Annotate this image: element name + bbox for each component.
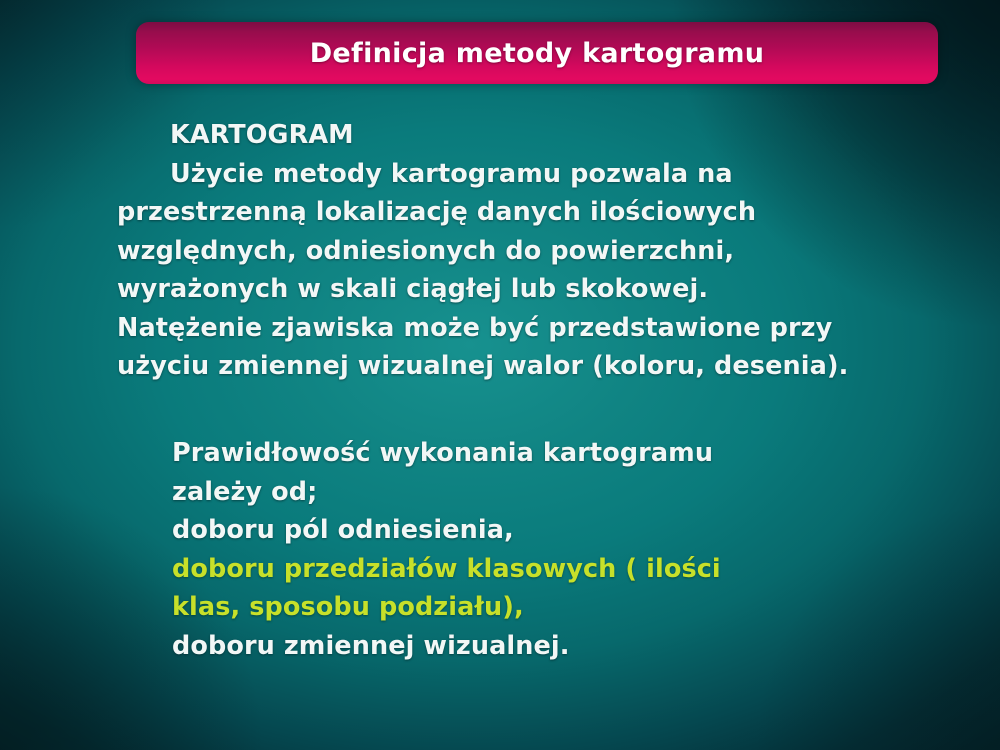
text-line: Prawidłowość wykonania kartogramu	[172, 434, 962, 473]
conditions-list: Prawidłowość wykonania kartogramu zależy…	[172, 434, 962, 665]
slide-title: Definicja metody kartogramu	[310, 38, 765, 69]
text-line-highlighted: doboru przedziałów klasowych ( ilości	[172, 550, 962, 589]
text-line: doboru zmiennej wizualnej.	[172, 627, 962, 666]
slide-title-banner: Definicja metody kartogramu	[136, 22, 938, 84]
text-line: doboru pól odniesienia,	[172, 511, 962, 550]
text-line: użyciu zmiennej wizualnej walor (koloru,…	[117, 347, 967, 386]
text-line-highlighted: klas, sposobu podziału),	[172, 588, 962, 627]
text-line: wyrażonych w skali ciągłej lub skokowej.	[117, 270, 967, 309]
text-line: przestrzenną lokalizację danych ilościow…	[117, 193, 967, 232]
definition-paragraph: KARTOGRAM Użycie metody kartogramu pozwa…	[117, 116, 967, 386]
text-line: KARTOGRAM	[117, 116, 967, 155]
text-line: Użycie metody kartogramu pozwala na	[117, 155, 967, 194]
text-line: zależy od;	[172, 473, 962, 512]
presentation-slide: Definicja metody kartogramu KARTOGRAM Uż…	[0, 0, 1000, 750]
text-line: względnych, odniesionych do powierzchni,	[117, 232, 967, 271]
text-line: Natężenie zjawiska może być przedstawion…	[117, 309, 967, 348]
